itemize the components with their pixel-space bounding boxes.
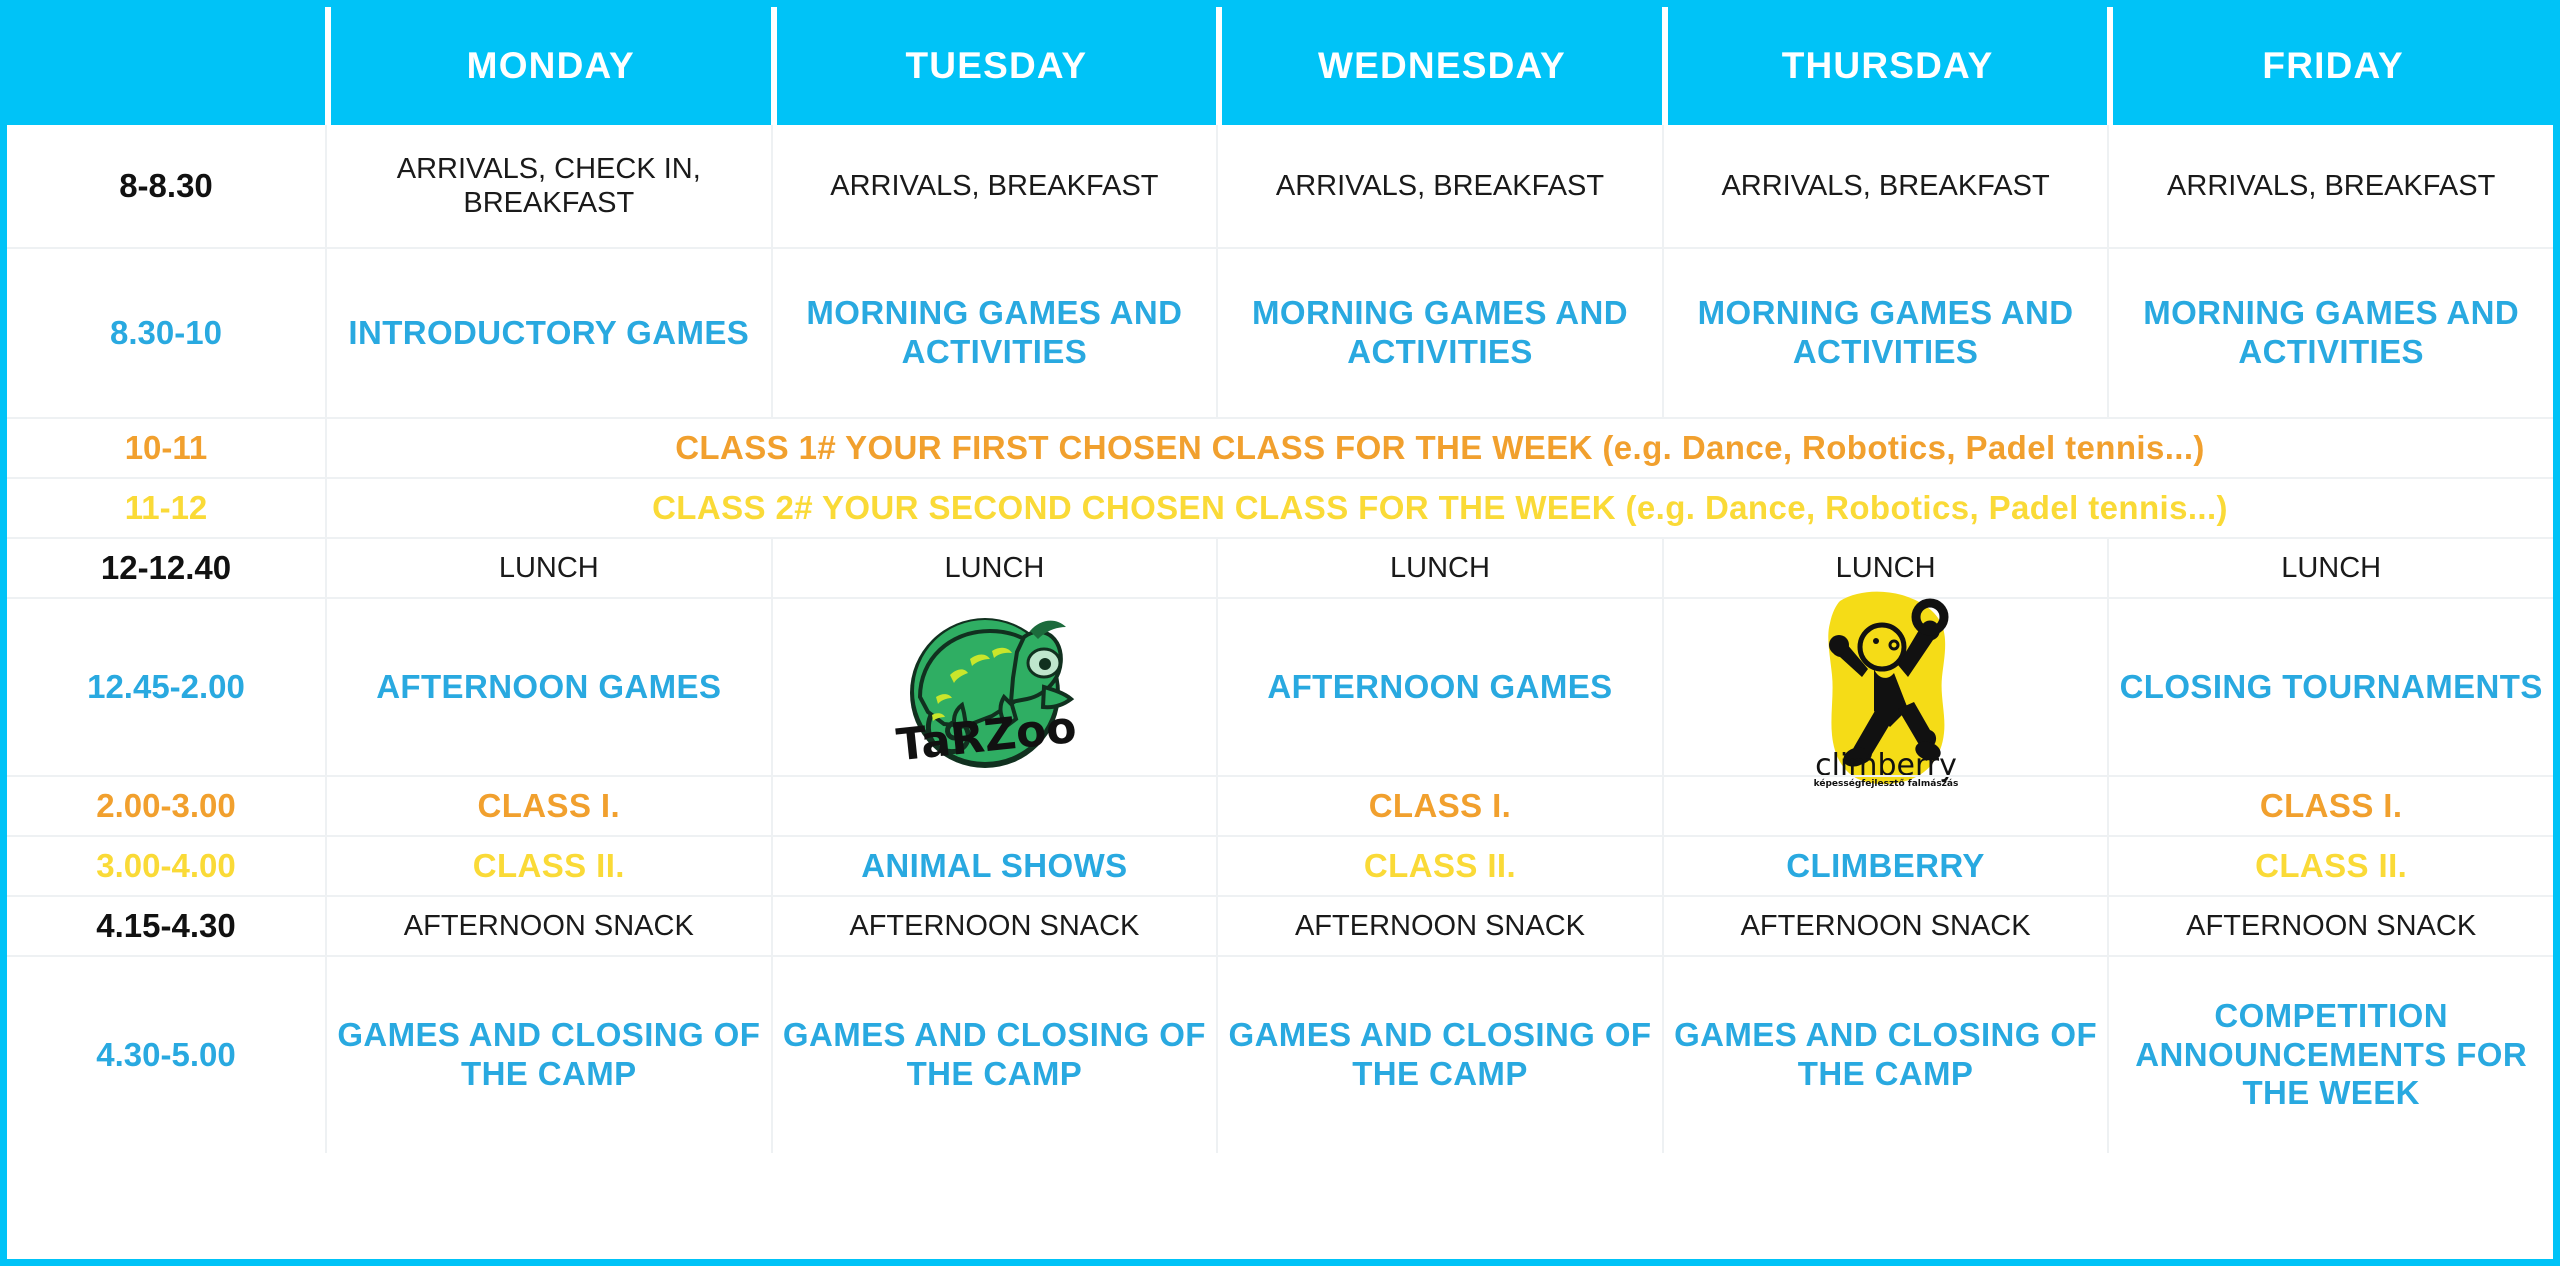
cell-thursday-afternoon-logo: climberry képességfejlesztő falmászás: [1662, 599, 2108, 775]
climberry-icon: climberry képességfejlesztő falmászás: [1806, 585, 1966, 790]
tarzoo-icon: TaRZoo: [892, 601, 1097, 773]
time-label-12-1240: 12-12.40: [7, 539, 325, 597]
cell-monday-class-ii: CLASS II.: [325, 837, 771, 895]
cell-tuesday-arrivals: ARRIVALS, BREAKFAST: [771, 125, 1217, 247]
cell-tuesday-class-i: [771, 777, 1217, 835]
header-day-monday: MONDAY: [325, 7, 771, 125]
table-row-arrivals: 8-8.30 ARRIVALS, CHECK IN, BREAKFAST ARR…: [7, 125, 2553, 247]
cell-thursday-climberry: CLIMBERRY: [1662, 837, 2108, 895]
tarzoo-logo: TaRZoo: [892, 603, 1097, 771]
cell-monday-class-i: CLASS I.: [325, 777, 771, 835]
cell-friday-class-i: CLASS I.: [2107, 777, 2553, 835]
table-row-morning-games: 8.30-10 INTRODUCTORY GAMES MORNING GAMES…: [7, 247, 2553, 417]
time-label-1245-200: 12.45-2.00: [7, 599, 325, 775]
cell-class-2-spanned: CLASS 2# YOUR SECOND CHOSEN CLASS FOR TH…: [325, 479, 2553, 537]
time-label-415-430: 4.15-4.30: [7, 897, 325, 955]
table-row-class-2: 11-12 CLASS 2# YOUR SECOND CHOSEN CLASS …: [7, 477, 2553, 537]
cell-monday-arrivals: ARRIVALS, CHECK IN, BREAKFAST: [325, 125, 771, 247]
time-label-10-11: 10-11: [7, 419, 325, 477]
climberry-logo: climberry képességfejlesztő falmászás: [1806, 603, 1966, 771]
cell-tuesday-lunch: LUNCH: [771, 539, 1217, 597]
cell-thursday-snack: AFTERNOON SNACK: [1662, 897, 2108, 955]
cell-wednesday-snack: AFTERNOON SNACK: [1216, 897, 1662, 955]
cell-friday-snack: AFTERNOON SNACK: [2107, 897, 2553, 955]
table-header-row: MONDAY TUESDAY WEDNESDAY THURSDAY FRIDAY: [7, 7, 2553, 125]
cell-thursday-arrivals: ARRIVALS, BREAKFAST: [1662, 125, 2108, 247]
weekly-camp-schedule-table: MONDAY TUESDAY WEDNESDAY THURSDAY FRIDAY…: [0, 0, 2560, 1266]
cell-tuesday-animal-shows: ANIMAL SHOWS: [771, 837, 1217, 895]
table-row-class-ii: 3.00-4.00 CLASS II. ANIMAL SHOWS CLASS I…: [7, 835, 2553, 895]
time-label-11-12: 11-12: [7, 479, 325, 537]
cell-thursday-class-i: [1662, 777, 2108, 835]
header-day-wednesday: WEDNESDAY: [1216, 7, 1662, 125]
cell-friday-lunch: LUNCH: [2107, 539, 2553, 597]
cell-wednesday-class-i: CLASS I.: [1216, 777, 1662, 835]
cell-wednesday-lunch: LUNCH: [1216, 539, 1662, 597]
cell-monday-morning: INTRODUCTORY GAMES: [325, 249, 771, 417]
table-row-class-i: 2.00-3.00 CLASS I. CLASS I. CLASS I.: [7, 775, 2553, 835]
cell-wednesday-afternoon: AFTERNOON GAMES: [1216, 599, 1662, 775]
cell-friday-arrivals: ARRIVALS, BREAKFAST: [2107, 125, 2553, 247]
header-day-tuesday: TUESDAY: [771, 7, 1217, 125]
cell-monday-snack: AFTERNOON SNACK: [325, 897, 771, 955]
cell-wednesday-closing: GAMES AND CLOSING OF THE CAMP: [1216, 957, 1662, 1153]
cell-friday-morning: MORNING GAMES AND ACTIVITIES: [2107, 249, 2553, 417]
time-label-830-10: 8.30-10: [7, 249, 325, 417]
cell-tuesday-morning: MORNING GAMES AND ACTIVITIES: [771, 249, 1217, 417]
cell-tuesday-afternoon-logo: TaRZoo: [771, 599, 1217, 775]
time-label-430-500: 4.30-5.00: [7, 957, 325, 1153]
cell-thursday-closing: GAMES AND CLOSING OF THE CAMP: [1662, 957, 2108, 1153]
cell-wednesday-morning: MORNING GAMES AND ACTIVITIES: [1216, 249, 1662, 417]
cell-tuesday-closing: GAMES AND CLOSING OF THE CAMP: [771, 957, 1217, 1153]
time-label-200-300: 2.00-3.00: [7, 777, 325, 835]
cell-wednesday-arrivals: ARRIVALS, BREAKFAST: [1216, 125, 1662, 247]
cell-friday-class-ii: CLASS II.: [2107, 837, 2553, 895]
cell-friday-closing: COMPETITION ANNOUNCEMENTS FOR THE WEEK: [2107, 957, 2553, 1153]
cell-monday-lunch: LUNCH: [325, 539, 771, 597]
header-day-friday: FRIDAY: [2107, 7, 2553, 125]
table-row-afternoon-games: 12.45-2.00 AFTERNOON GAMES: [7, 597, 2553, 775]
table-row-afternoon-snack: 4.15-4.30 AFTERNOON SNACK AFTERNOON SNAC…: [7, 895, 2553, 955]
cell-wednesday-class-ii: CLASS II.: [1216, 837, 1662, 895]
cell-monday-afternoon: AFTERNOON GAMES: [325, 599, 771, 775]
cell-class-1-spanned: CLASS 1# YOUR FIRST CHOSEN CLASS FOR THE…: [325, 419, 2553, 477]
table-body: 8-8.30 ARRIVALS, CHECK IN, BREAKFAST ARR…: [7, 125, 2553, 1259]
header-day-thursday: THURSDAY: [1662, 7, 2108, 125]
cell-thursday-morning: MORNING GAMES AND ACTIVITIES: [1662, 249, 2108, 417]
time-label-300-400: 3.00-4.00: [7, 837, 325, 895]
table-row-lunch: 12-12.40 LUNCH LUNCH LUNCH LUNCH LUNCH: [7, 537, 2553, 597]
cell-tuesday-snack: AFTERNOON SNACK: [771, 897, 1217, 955]
table-row-closing: 4.30-5.00 GAMES AND CLOSING OF THE CAMP …: [7, 955, 2553, 1153]
time-label-8-830: 8-8.30: [7, 125, 325, 247]
cell-monday-closing: GAMES AND CLOSING OF THE CAMP: [325, 957, 771, 1153]
header-time-column: [7, 7, 325, 125]
cell-friday-afternoon: CLOSING TOURNAMENTS: [2107, 599, 2553, 775]
table-row-class-1: 10-11 CLASS 1# YOUR FIRST CHOSEN CLASS F…: [7, 417, 2553, 477]
